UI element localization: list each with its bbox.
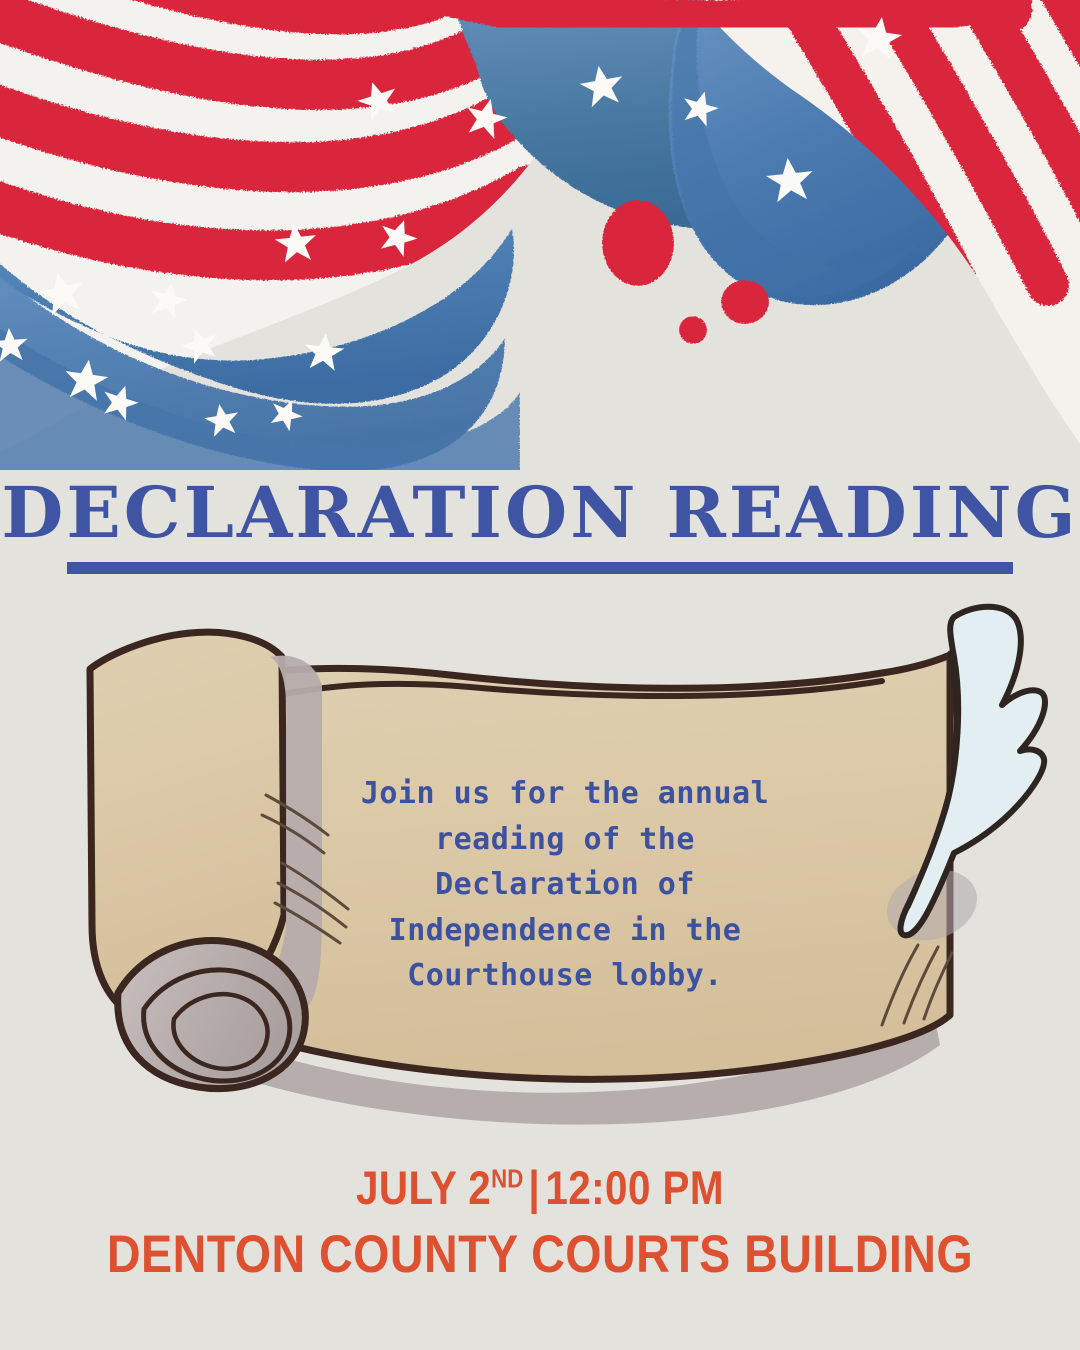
american-flag-bunting bbox=[0, 0, 1080, 470]
event-date: JULY 2 bbox=[356, 1161, 491, 1214]
title-underline-rule bbox=[67, 562, 1013, 574]
title-block: DECLARATION READING bbox=[0, 478, 1080, 548]
scroll-curl-roll bbox=[118, 941, 306, 1089]
bunting-left-star-field bbox=[0, 225, 520, 470]
poster-canvas: DECLARATION READING bbox=[0, 0, 1080, 1350]
bunting-top-red-band bbox=[400, 0, 1010, 23]
bunting-right-stripes bbox=[690, 0, 1080, 470]
event-time: 12:00 PM bbox=[545, 1161, 724, 1214]
page-title: DECLARATION READING bbox=[0, 478, 1080, 548]
event-date-ordinal: ND bbox=[491, 1165, 523, 1193]
event-datetime-line: JULY 2ND|12:00 PM bbox=[76, 1162, 1005, 1215]
scroll-line-5: Courthouse lobby. bbox=[285, 953, 845, 999]
event-details: JULY 2ND|12:00 PM DENTON COUNTY COURTS B… bbox=[0, 1162, 1080, 1284]
scroll-line-3: Declaration of bbox=[285, 862, 845, 908]
bunting-right-stars bbox=[353, 14, 904, 203]
red-paint-dots bbox=[602, 200, 769, 344]
scroll-line-4: Independence in the bbox=[285, 908, 845, 954]
bunting-left-stars bbox=[0, 214, 422, 438]
bunting-left-stripes bbox=[0, 0, 610, 470]
event-separator: | bbox=[523, 1161, 545, 1214]
parchment-scroll: Join us for the annual reading of the De… bbox=[70, 595, 1070, 1160]
event-venue: DENTON COUNTY COURTS BUILDING bbox=[65, 1225, 1015, 1284]
scroll-message: Join us for the annual reading of the De… bbox=[285, 771, 845, 999]
scroll-line-2: reading of the bbox=[285, 817, 845, 863]
scroll-line-1: Join us for the annual bbox=[285, 771, 845, 817]
bunting-center-swag bbox=[448, 0, 1010, 229]
bunting-right-swag bbox=[669, 0, 1016, 305]
